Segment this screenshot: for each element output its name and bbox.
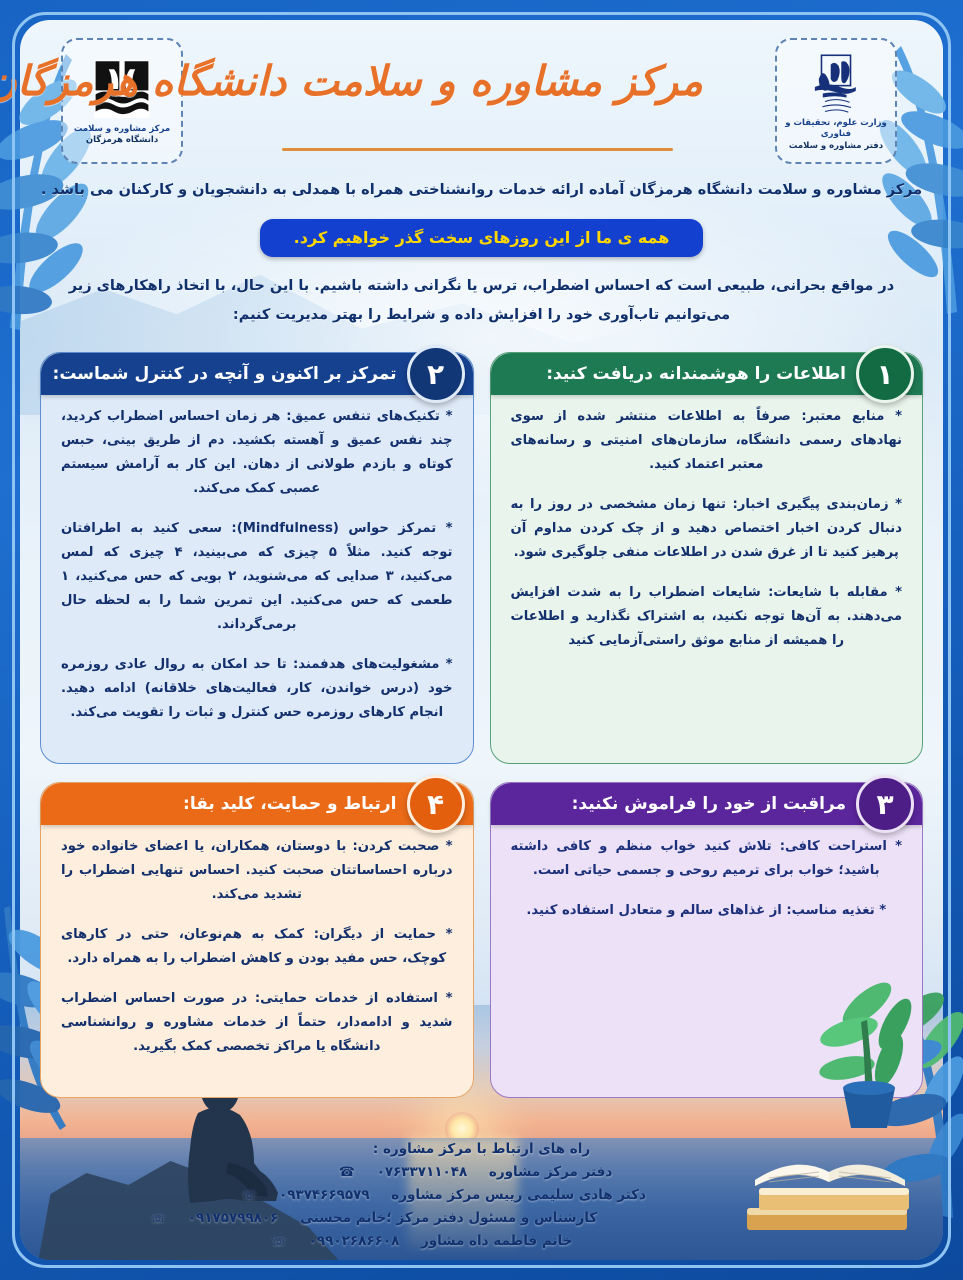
contact-row: کارشناس و مسئول دفتر مرکز ؛خانم محسنی ۰۹… — [52, 1210, 695, 1226]
card-1-paragraph-3: * مقابله با شایعات: شایعات اضطراب را به … — [511, 581, 903, 653]
calligraphy-emblem-icon — [803, 50, 869, 116]
contact-number[interactable]: ۰۹۹۰۲۶۸۶۶۰۸ — [295, 1233, 413, 1249]
card-3-number-badge: ۳ — [856, 775, 914, 833]
logo-caption-line2: دانشگاه هرمزگان — [74, 135, 170, 146]
card-1-title: اطلاعات را هوشمندانه دریافت کنید: — [546, 364, 846, 384]
contact-number[interactable]: ۰۹۱۷۵۷۹۹۸۰۶ — [174, 1210, 292, 1226]
card-1-paragraph-2: * زمان‌بندی پیگیری اخبار: تنها زمان مشخص… — [511, 493, 903, 565]
contact-number[interactable]: ۰۹۳۷۴۶۶۹۵۷۹ — [265, 1187, 383, 1203]
card-2-number-badge: ۲ — [407, 345, 465, 403]
logo-caption: وزارت علوم، تحقیقات و فناوری دفتر مشاوره… — [780, 118, 892, 152]
card-2-paragraph-2: * تمرکز حواس (Mindfulness): سعی کنید به … — [61, 517, 453, 637]
phone-icon: ☏ — [241, 1188, 257, 1203]
contact-row: دفتر مرکز مشاوره ۰۷۶۳۳۷۱۱۰۴۸ ☎ — [154, 1164, 797, 1180]
contact-label: دکتر هادی سلیمی رییس مرکز مشاوره — [391, 1187, 646, 1203]
contact-label: کارشناس و مسئول دفتر مرکز ؛خانم محسنی — [300, 1210, 597, 1226]
card-3-paragraph-1: * استراحت کافی: تلاش کنید خواب منظم و کا… — [511, 835, 903, 883]
card-1-body: * منابع معتبر: صرفاً به اطلاعات منتشر شد… — [511, 405, 903, 653]
card-2-body: * تکنیک‌های تنفس عمیق: هر زمان احساس اضط… — [61, 405, 453, 725]
card-2-paragraph-3: * مشغولیت‌های هدفمند: تا حد امکان به روا… — [61, 653, 453, 725]
card-3-paragraph-2: * تغذیه مناسب: از غذاهای سالم و متعادل ا… — [511, 899, 903, 923]
contact-section: راه های ارتباط با مرکز مشاوره : دفتر مرک… — [160, 1141, 803, 1256]
strategy-card-4: ارتباط و حمایت، کلید بقا: ۴ * صحبت کردن:… — [40, 782, 474, 1098]
contact-label: خانم فاطمه داه مشاور — [421, 1233, 572, 1249]
logo-caption-line1: مرکز مشاوره و سلامت — [74, 124, 170, 135]
logo-caption: مرکز مشاوره و سلامت دانشگاه هرمزگان — [74, 124, 170, 147]
card-4-paragraph-1: * صحبت کردن: با دوستان، همکاران، یا اعضا… — [61, 835, 453, 907]
card-1-paragraph-1: * منابع معتبر: صرفاً به اطلاعات منتشر شد… — [511, 405, 903, 477]
contact-number[interactable]: ۰۷۶۳۳۷۱۱۰۴۸ — [363, 1164, 481, 1180]
pledge-badge: همه ی ما از این روزهای سخت گذر خواهیم کر… — [260, 219, 704, 257]
contact-label: دفتر مرکز مشاوره — [489, 1164, 612, 1180]
intro-lead-text: مرکز مشاوره و سلامت دانشگاه هرمزگان آماد… — [40, 180, 923, 202]
strategy-cards-grid: اطلاعات را هوشمندانه دریافت کنید: ۱ * من… — [40, 352, 923, 1098]
poster-canvas: مرکز مشاوره و سلامت دانشگاه هرمزگان — [0, 0, 963, 1280]
card-4-number-badge: ۴ — [407, 775, 465, 833]
title-underline — [282, 148, 673, 151]
telephone-icon: ☎ — [339, 1165, 355, 1180]
strategy-card-2: تمرکز بر اکنون و آنچه در کنترل شماست: ۲ … — [40, 352, 474, 764]
phone-icon: ☏ — [271, 1234, 287, 1249]
card-4-paragraph-2: * حمایت از دیگران: کمک به هم‌نوعان، حتی … — [61, 923, 453, 971]
strategy-card-1: اطلاعات را هوشمندانه دریافت کنید: ۱ * من… — [490, 352, 924, 764]
card-3-body: * استراحت کافی: تلاش کنید خواب منظم و کا… — [511, 835, 903, 923]
intro-section: مرکز مشاوره و سلامت دانشگاه هرمزگان آماد… — [40, 180, 923, 328]
student-organization-logo: وزارت علوم، تحقیقات و فناوری دفتر مشاوره… — [775, 38, 897, 164]
logo-caption-line2: دفتر مشاوره و سلامت — [780, 141, 892, 152]
card-4-paragraph-3: * استفاده از خدمات حمایتی: در صورت احساس… — [61, 987, 453, 1059]
card-4-title: ارتباط و حمایت، کلید بقا: — [183, 794, 396, 814]
contact-heading: راه های ارتباط با مرکز مشاوره : — [160, 1141, 803, 1157]
phone-icon: ☏ — [150, 1211, 166, 1226]
intro-paragraph-line2: می‌توانیم تاب‌آوری خود را افزایش داده و … — [40, 302, 923, 329]
intro-paragraph-line1: در مواقع بحرانی، طبیعی است که احساس اضطر… — [40, 273, 923, 300]
card-2-paragraph-1: * تکنیک‌های تنفس عمیق: هر زمان احساس اضط… — [61, 405, 453, 501]
card-2-title: تمرکز بر اکنون و آنچه در کنترل شماست: — [53, 364, 397, 384]
card-3-title: مراقبت از خود را فراموش نکنید: — [572, 794, 846, 814]
contact-row: خانم فاطمه داه مشاور ۰۹۹۰۲۶۸۶۶۰۸ ☏ — [100, 1233, 743, 1249]
card-1-number-badge: ۱ — [856, 345, 914, 403]
poster-header: مرکز مشاوره و سلامت دانشگاه هرمزگان — [20, 20, 943, 185]
contact-row: دکتر هادی سلیمی رییس مرکز مشاوره ۰۹۳۷۴۶۶… — [122, 1187, 765, 1203]
logo-caption-line1: وزارت علوم، تحقیقات و فناوری — [780, 118, 892, 141]
page-title: مرکز مشاوره و سلامت دانشگاه هرمزگان — [250, 58, 703, 105]
card-4-body: * صحبت کردن: با دوستان، همکاران، یا اعضا… — [61, 835, 453, 1059]
